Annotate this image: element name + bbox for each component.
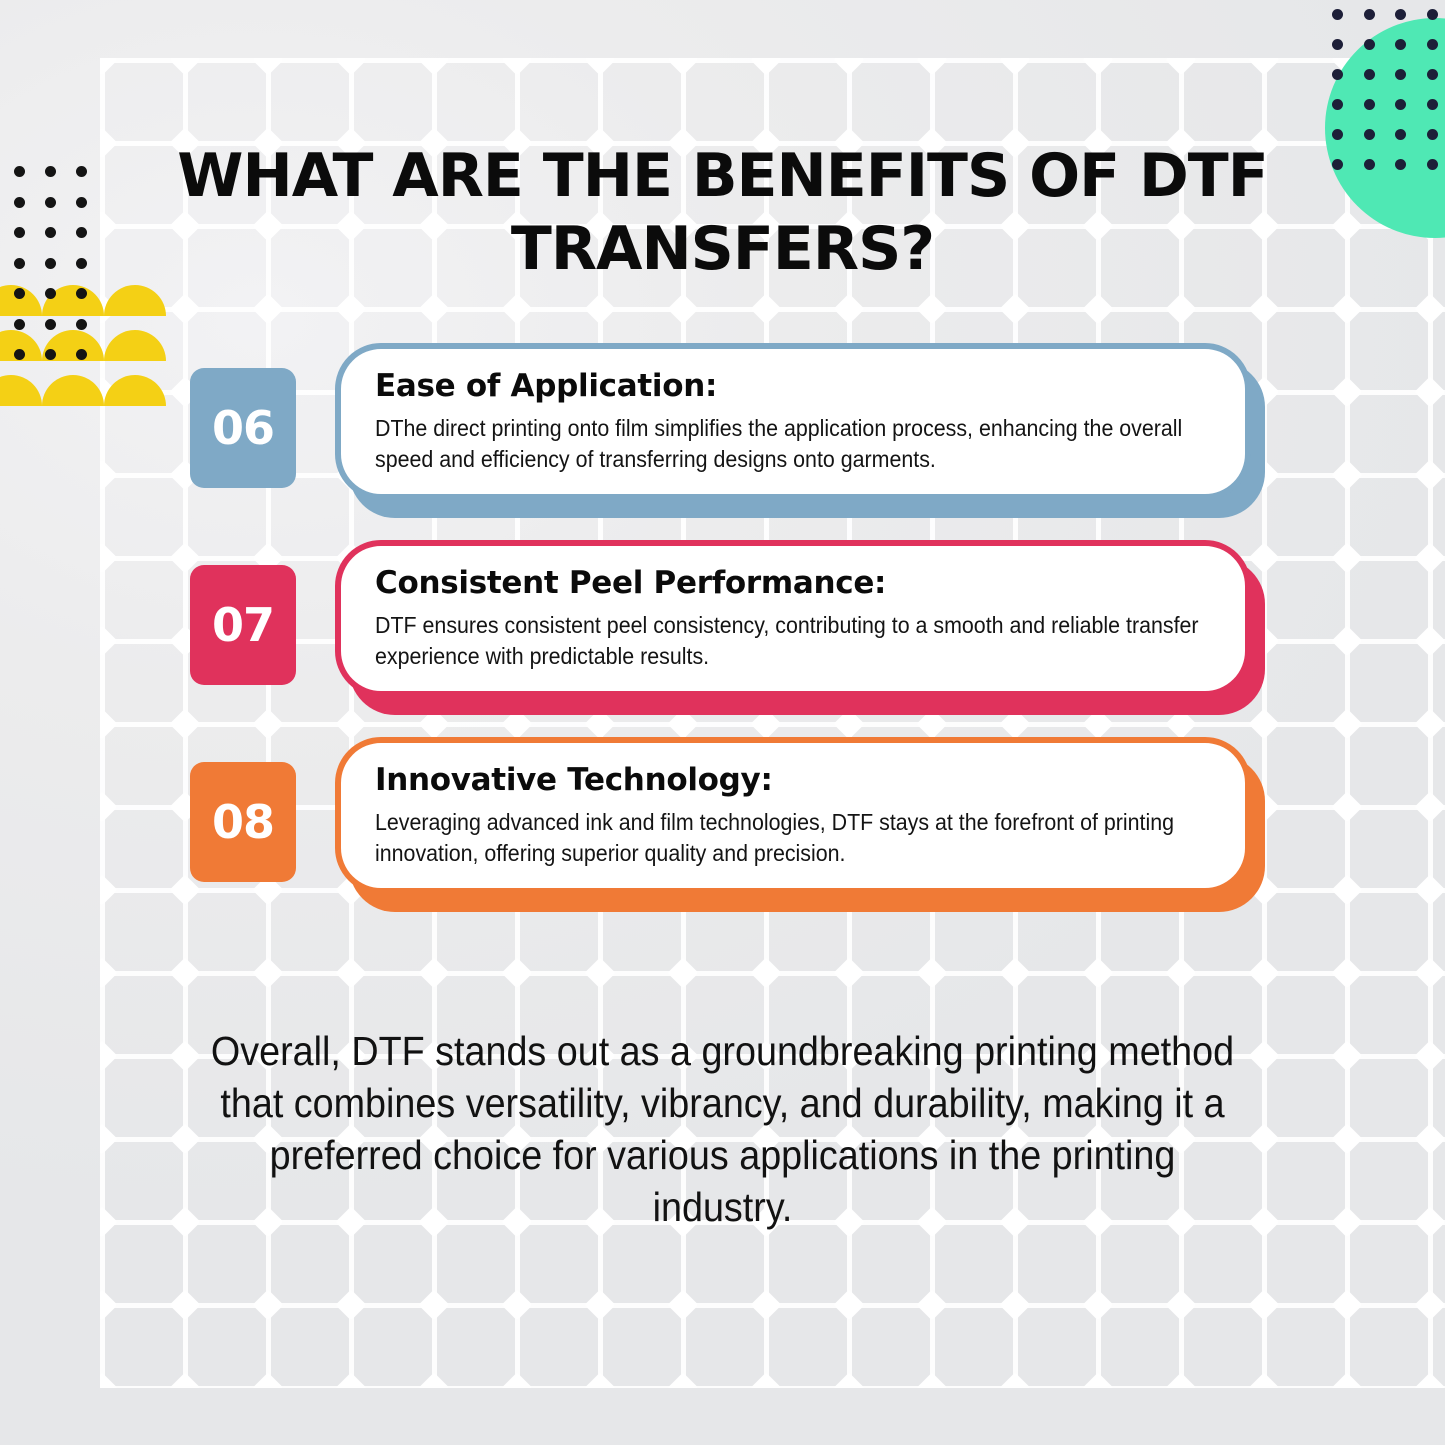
grid-diamond — [100, 459, 118, 490]
grid-diamond — [100, 210, 118, 241]
grid-diamond — [169, 957, 200, 988]
page-title: WHAT ARE THE BENEFITS OF DTF TRANSFERS? — [150, 140, 1295, 286]
decorative-dot — [1332, 69, 1343, 80]
grid-diamond — [1082, 293, 1113, 324]
grid-diamond — [1165, 58, 1196, 76]
decorative-dot — [1395, 129, 1406, 140]
grid-diamond — [1082, 1289, 1113, 1320]
grid-diamond — [584, 293, 615, 324]
grid-diamond — [1082, 1372, 1113, 1388]
decorative-dot — [1427, 129, 1438, 140]
benefit-description: DTF ensures consistent peel consistency,… — [375, 610, 1207, 672]
benefit-card-wrap: Ease of Application: DThe direct printin… — [335, 343, 1265, 518]
grid-diamond — [667, 957, 698, 988]
grid-diamond — [1414, 1040, 1445, 1071]
benefit-title: Consistent Peel Performance: — [375, 564, 1211, 602]
grid-diamond — [916, 293, 947, 324]
grid-diamond — [1248, 957, 1279, 988]
benefit-title: Ease of Application: — [375, 367, 1211, 405]
decorative-dot — [1364, 69, 1375, 80]
decorative-dot — [76, 288, 87, 299]
grid-diamond — [1165, 957, 1196, 988]
grid-diamond — [750, 293, 781, 324]
grid-diamond — [667, 293, 698, 324]
decorative-dot — [1427, 9, 1438, 20]
grid-diamond — [584, 58, 615, 76]
grid-diamond — [1414, 957, 1445, 988]
decorative-dot — [14, 197, 25, 208]
decorative-dot — [1427, 159, 1438, 170]
decorative-dot — [1395, 39, 1406, 50]
decorative-dot — [1427, 99, 1438, 110]
grid-diamond — [335, 1289, 366, 1320]
decorative-dot — [1332, 129, 1343, 140]
grid-diamond — [999, 293, 1030, 324]
grid-diamond — [335, 957, 366, 988]
grid-diamond — [1248, 58, 1279, 76]
grid-diamond — [1331, 625, 1362, 656]
benefit-card: Consistent Peel Performance: DTF ensures… — [335, 540, 1251, 697]
grid-diamond — [1331, 1123, 1362, 1154]
grid-diamond — [335, 1372, 366, 1388]
benefit-card: Ease of Application: DThe direct printin… — [335, 343, 1251, 500]
decorative-dot — [1395, 159, 1406, 170]
closing-paragraph: Overall, DTF stands out as a groundbreak… — [160, 1025, 1285, 1233]
decorative-dot — [76, 166, 87, 177]
decorative-dot — [76, 197, 87, 208]
decorative-dot — [45, 258, 56, 269]
grid-diamond — [750, 1372, 781, 1388]
grid-diamond — [1165, 1372, 1196, 1388]
benefit-number-badge: 06 — [190, 368, 296, 488]
decorative-dot — [1364, 129, 1375, 140]
yellow-semicircle — [104, 375, 166, 406]
grid-diamond — [667, 58, 698, 76]
grid-diamond — [1331, 542, 1362, 573]
grid-diamond — [916, 1372, 947, 1388]
grid-diamond — [501, 957, 532, 988]
decorative-dot — [1364, 39, 1375, 50]
grid-diamond — [252, 58, 283, 76]
grid-diamond — [1082, 58, 1113, 76]
grid-diamond — [501, 293, 532, 324]
grid-diamond — [418, 1372, 449, 1388]
benefit-number-badge: 07 — [190, 565, 296, 685]
decorative-dot — [1332, 99, 1343, 110]
grid-diamond — [584, 1289, 615, 1320]
grid-diamond — [1414, 708, 1445, 739]
grid-diamond — [1414, 293, 1445, 324]
grid-diamond — [1248, 1289, 1279, 1320]
grid-diamond — [1331, 210, 1362, 241]
grid-diamond — [169, 1289, 200, 1320]
benefit-row: 08 Innovative Technology: Leveraging adv… — [190, 737, 1265, 917]
grid-diamond — [418, 1289, 449, 1320]
infographic-poster: WHAT ARE THE BENEFITS OF DTF TRANSFERS? … — [0, 0, 1445, 1445]
decorative-dot — [76, 258, 87, 269]
yellow-semicircle — [104, 330, 166, 361]
decorative-dot — [45, 197, 56, 208]
yellow-semicircle — [42, 375, 104, 406]
grid-diamond — [750, 58, 781, 76]
decorative-dot — [45, 349, 56, 360]
grid-diamond — [252, 957, 283, 988]
grid-diamond — [999, 1289, 1030, 1320]
grid-diamond — [750, 957, 781, 988]
closing-paragraph-text: Overall, DTF stands out as a groundbreak… — [205, 1025, 1240, 1233]
grid-diamond — [999, 957, 1030, 988]
grid-diamond — [100, 1372, 118, 1388]
yellow-semicircle — [104, 285, 166, 316]
decorative-dot — [14, 227, 25, 238]
grid-diamond — [100, 1206, 118, 1237]
grid-diamond — [100, 625, 118, 656]
grid-diamond — [335, 293, 366, 324]
decorative-dot — [76, 319, 87, 330]
grid-diamond — [1165, 1289, 1196, 1320]
grid-diamond — [1248, 1372, 1279, 1388]
decorative-dot — [14, 166, 25, 177]
grid-diamond — [916, 957, 947, 988]
grid-diamond — [1414, 376, 1445, 407]
grid-diamond — [916, 1289, 947, 1320]
grid-diamond — [501, 58, 532, 76]
grid-diamond — [100, 957, 118, 988]
decorative-dot — [45, 288, 56, 299]
yellow-semicircle — [0, 375, 42, 406]
grid-diamond — [100, 708, 118, 739]
grid-diamond — [1331, 293, 1362, 324]
decorative-dot — [45, 166, 56, 177]
grid-diamond — [252, 1289, 283, 1320]
decorative-dot — [1332, 39, 1343, 50]
grid-diamond — [584, 957, 615, 988]
grid-diamond — [100, 791, 118, 822]
grid-diamond — [100, 542, 118, 573]
grid-diamond — [667, 1372, 698, 1388]
grid-diamond — [1331, 1372, 1362, 1388]
grid-diamond — [1331, 1206, 1362, 1237]
grid-diamond — [1414, 1372, 1445, 1388]
grid-diamond — [335, 58, 366, 76]
grid-diamond — [1414, 1206, 1445, 1237]
grid-diamond — [100, 1040, 118, 1071]
benefit-number-badge: 08 — [190, 762, 296, 882]
decorative-dot — [1395, 69, 1406, 80]
grid-diamond — [833, 1289, 864, 1320]
decorative-dot — [1364, 159, 1375, 170]
grid-diamond — [1414, 874, 1445, 905]
grid-diamond — [916, 58, 947, 76]
grid-diamond — [100, 127, 118, 158]
grid-diamond — [501, 1372, 532, 1388]
benefit-description: Leveraging advanced ink and film technol… — [375, 807, 1207, 869]
grid-diamond — [1331, 1289, 1362, 1320]
grid-diamond — [1414, 625, 1445, 656]
grid-diamond — [1082, 957, 1113, 988]
decorative-dot — [45, 227, 56, 238]
benefit-card: Innovative Technology: Leveraging advanc… — [335, 737, 1251, 894]
benefit-row: 07 Consistent Peel Performance: DTF ensu… — [190, 540, 1265, 720]
grid-diamond — [1414, 1289, 1445, 1320]
decorative-dot — [76, 227, 87, 238]
grid-diamond — [169, 1372, 200, 1388]
grid-diamond — [252, 1372, 283, 1388]
grid-diamond — [1331, 957, 1362, 988]
grid-diamond — [999, 58, 1030, 76]
grid-diamond — [667, 1289, 698, 1320]
grid-diamond — [100, 1123, 118, 1154]
grid-diamond — [1331, 459, 1362, 490]
decorative-dot — [14, 258, 25, 269]
decorative-dot — [14, 288, 25, 299]
grid-diamond — [833, 58, 864, 76]
decorative-dot — [14, 319, 25, 330]
grid-diamond — [833, 293, 864, 324]
benefit-description: DThe direct printing onto film simplifie… — [375, 413, 1207, 475]
decorative-dot — [1332, 159, 1343, 170]
decorative-dot — [1364, 99, 1375, 110]
decorative-dot — [1395, 9, 1406, 20]
grid-diamond — [252, 293, 283, 324]
grid-diamond — [833, 1372, 864, 1388]
grid-diamond — [169, 58, 200, 76]
grid-diamond — [418, 957, 449, 988]
grid-diamond — [1414, 1123, 1445, 1154]
grid-diamond — [833, 957, 864, 988]
decorative-dot — [1427, 69, 1438, 80]
teal-circle-decoration — [1325, 18, 1445, 238]
benefit-card-wrap: Innovative Technology: Leveraging advanc… — [335, 737, 1265, 912]
decorative-dot — [76, 349, 87, 360]
decorative-dot — [1364, 9, 1375, 20]
grid-diamond — [100, 1289, 118, 1320]
benefit-title: Innovative Technology: — [375, 761, 1211, 799]
grid-diamond — [1248, 293, 1279, 324]
grid-diamond — [100, 58, 118, 76]
grid-diamond — [1331, 376, 1362, 407]
decorative-dot — [1395, 99, 1406, 110]
grid-diamond — [1165, 293, 1196, 324]
grid-diamond — [1414, 542, 1445, 573]
grid-diamond — [999, 1372, 1030, 1388]
grid-diamond — [750, 1289, 781, 1320]
grid-diamond — [1331, 791, 1362, 822]
benefit-card-wrap: Consistent Peel Performance: DTF ensures… — [335, 540, 1265, 715]
grid-diamond — [100, 874, 118, 905]
grid-diamond — [418, 293, 449, 324]
grid-diamond — [1414, 459, 1445, 490]
grid-diamond — [1331, 1040, 1362, 1071]
decorative-dot — [1427, 39, 1438, 50]
grid-diamond — [501, 1289, 532, 1320]
grid-diamond — [169, 293, 200, 324]
benefit-row: 06 Ease of Application: DThe direct prin… — [190, 343, 1265, 523]
grid-diamond — [1414, 791, 1445, 822]
grid-diamond — [584, 1372, 615, 1388]
decorative-dot — [45, 319, 56, 330]
grid-diamond — [418, 58, 449, 76]
grid-diamond — [1331, 708, 1362, 739]
grid-diamond — [1331, 874, 1362, 905]
decorative-dot — [14, 349, 25, 360]
decorative-dot — [1332, 9, 1343, 20]
